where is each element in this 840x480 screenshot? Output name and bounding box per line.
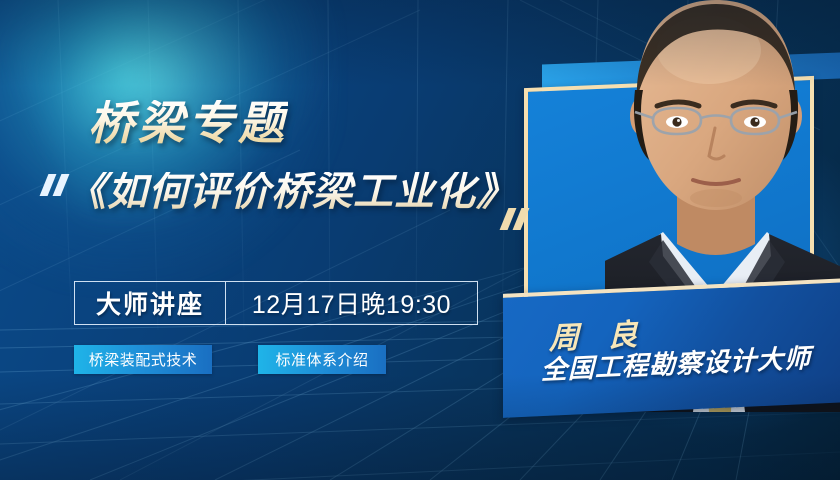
page-title: 桥梁专题 bbox=[88, 100, 288, 146]
tag-spacer bbox=[212, 345, 258, 374]
lecture-type-label: 大师讲座 bbox=[96, 285, 204, 321]
lecture-datetime-label: 12月17日晚19:30 bbox=[252, 285, 451, 321]
topic-tag: 标准体系介绍 bbox=[258, 345, 386, 374]
lecture-info-box: 大师讲座 12月17日晚19:30 bbox=[74, 281, 478, 325]
speaker-nameplate-text: 周 良 全国工程勘察设计大师 bbox=[503, 278, 840, 418]
lecture-datetime: 12月17日晚19:30 bbox=[226, 282, 477, 324]
lecture-type: 大师讲座 bbox=[75, 282, 226, 324]
subtitle-block: 《如何评价桥梁工业化》 bbox=[36, 168, 536, 238]
close-quote-icon bbox=[504, 208, 530, 230]
speaker-portrait-zone: 周 良 全国工程勘察设计大师 bbox=[495, 0, 840, 480]
topic-tag-list: 桥梁装配式技术 标准体系介绍 bbox=[74, 345, 386, 374]
lecture-poster: 周 良 全国工程勘察设计大师 桥梁专题 《如何评价桥梁工业化》 大师讲座 12月… bbox=[0, 0, 840, 480]
topic-tag: 桥梁装配式技术 bbox=[74, 345, 212, 374]
page-subtitle: 《如何评价桥梁工业化》 bbox=[66, 172, 517, 212]
